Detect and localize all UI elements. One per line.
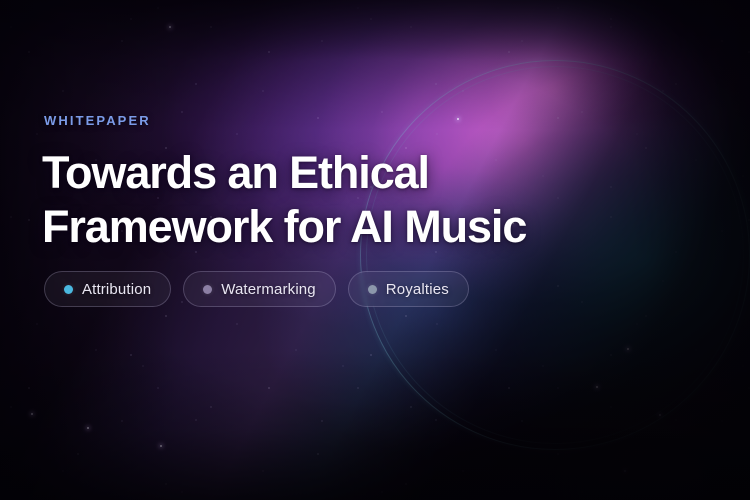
tag-pill-attribution[interactable]: Attribution — [44, 271, 171, 307]
headline-line-2: Framework for AI Music — [42, 200, 622, 254]
topic-tag-row: Attribution Watermarking Royalties — [44, 271, 469, 307]
tag-label-attribution: Attribution — [82, 281, 151, 298]
bright-star — [31, 413, 33, 415]
attribution-dot — [64, 285, 73, 294]
page-title: Towards an Ethical Framework for AI Musi… — [42, 146, 622, 254]
watermarking-dot — [203, 285, 212, 294]
hero-content: WHITEPAPER Towards an Ethical Framework … — [44, 0, 644, 500]
eyebrow-label: WHITEPAPER — [44, 113, 151, 128]
tag-pill-royalties[interactable]: Royalties — [348, 271, 469, 307]
tag-pill-watermarking[interactable]: Watermarking — [183, 271, 336, 307]
headline-line-1: Towards an Ethical — [42, 146, 622, 200]
whitepaper-hero-banner: WHITEPAPER Towards an Ethical Framework … — [0, 0, 750, 500]
royalties-dot — [368, 285, 377, 294]
tag-label-royalties: Royalties — [386, 281, 449, 298]
bright-star — [659, 414, 661, 416]
tag-label-watermarking: Watermarking — [221, 281, 316, 298]
